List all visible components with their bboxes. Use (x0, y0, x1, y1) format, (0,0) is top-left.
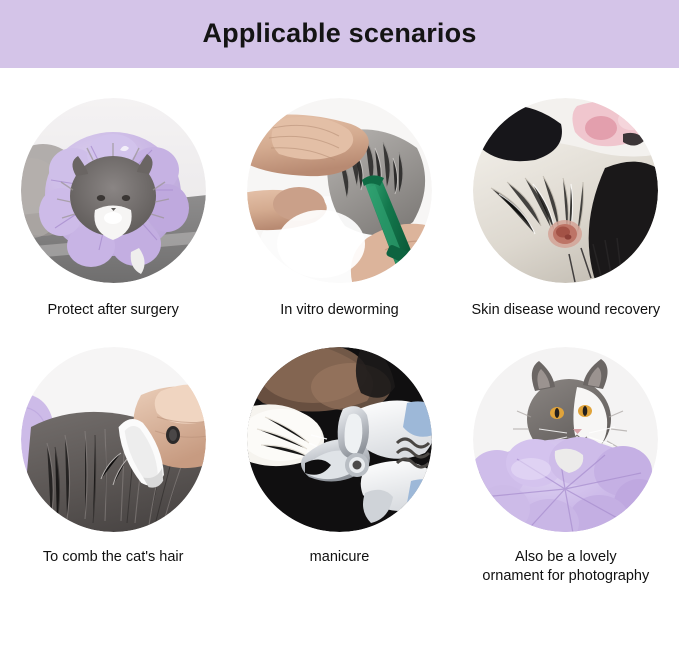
scenario-caption: manicure (310, 548, 370, 567)
scenario-grid: Protect after surgery (0, 68, 679, 586)
page-title: Applicable scenarios (202, 20, 476, 49)
scenario-card-comb-the-cats-hair[interactable]: To comb the cat's hair (0, 347, 226, 586)
cat-flower-collar-portrait-illustration (473, 347, 658, 532)
scenario-card-skin-disease-wound-recovery[interactable]: Skin disease wound recovery (453, 98, 679, 320)
header-banner: Applicable scenarios (0, 0, 679, 68)
photo-lovely-ornament-for-photography (473, 347, 658, 532)
scenario-card-protect-after-surgery[interactable]: Protect after surgery (0, 98, 226, 320)
cat-grooming-comb-illustration (21, 347, 206, 532)
photo-skin-disease-wound-recovery (473, 98, 658, 283)
scenario-row-bottom: To comb the cat's hair (0, 320, 679, 586)
pet-nail-clipper-illustration (247, 347, 432, 532)
scenario-card-in-vitro-deworming[interactable]: In vitro deworming (226, 98, 452, 320)
scenario-card-manicure[interactable]: manicure (226, 347, 452, 586)
photo-protect-after-surgery (21, 98, 206, 283)
scenario-caption: In vitro deworming (280, 301, 398, 320)
photo-comb-the-cats-hair (21, 347, 206, 532)
scenario-caption: Protect after surgery (47, 301, 178, 320)
scenario-caption: To comb the cat's hair (43, 548, 184, 567)
photo-in-vitro-deworming (247, 98, 432, 283)
scenario-row-top: Protect after surgery (0, 68, 679, 320)
photo-manicure (247, 347, 432, 532)
skin-wound-closeup-illustration (473, 98, 658, 283)
scenario-caption: Also be a lovely ornament for photograph… (482, 548, 649, 586)
scenario-card-lovely-ornament-for-photography[interactable]: Also be a lovely ornament for photograph… (453, 347, 679, 586)
deworming-pipette-illustration (247, 98, 432, 283)
scenario-caption: Skin disease wound recovery (472, 301, 661, 320)
cat-in-recovery-collar-illustration (21, 98, 206, 283)
